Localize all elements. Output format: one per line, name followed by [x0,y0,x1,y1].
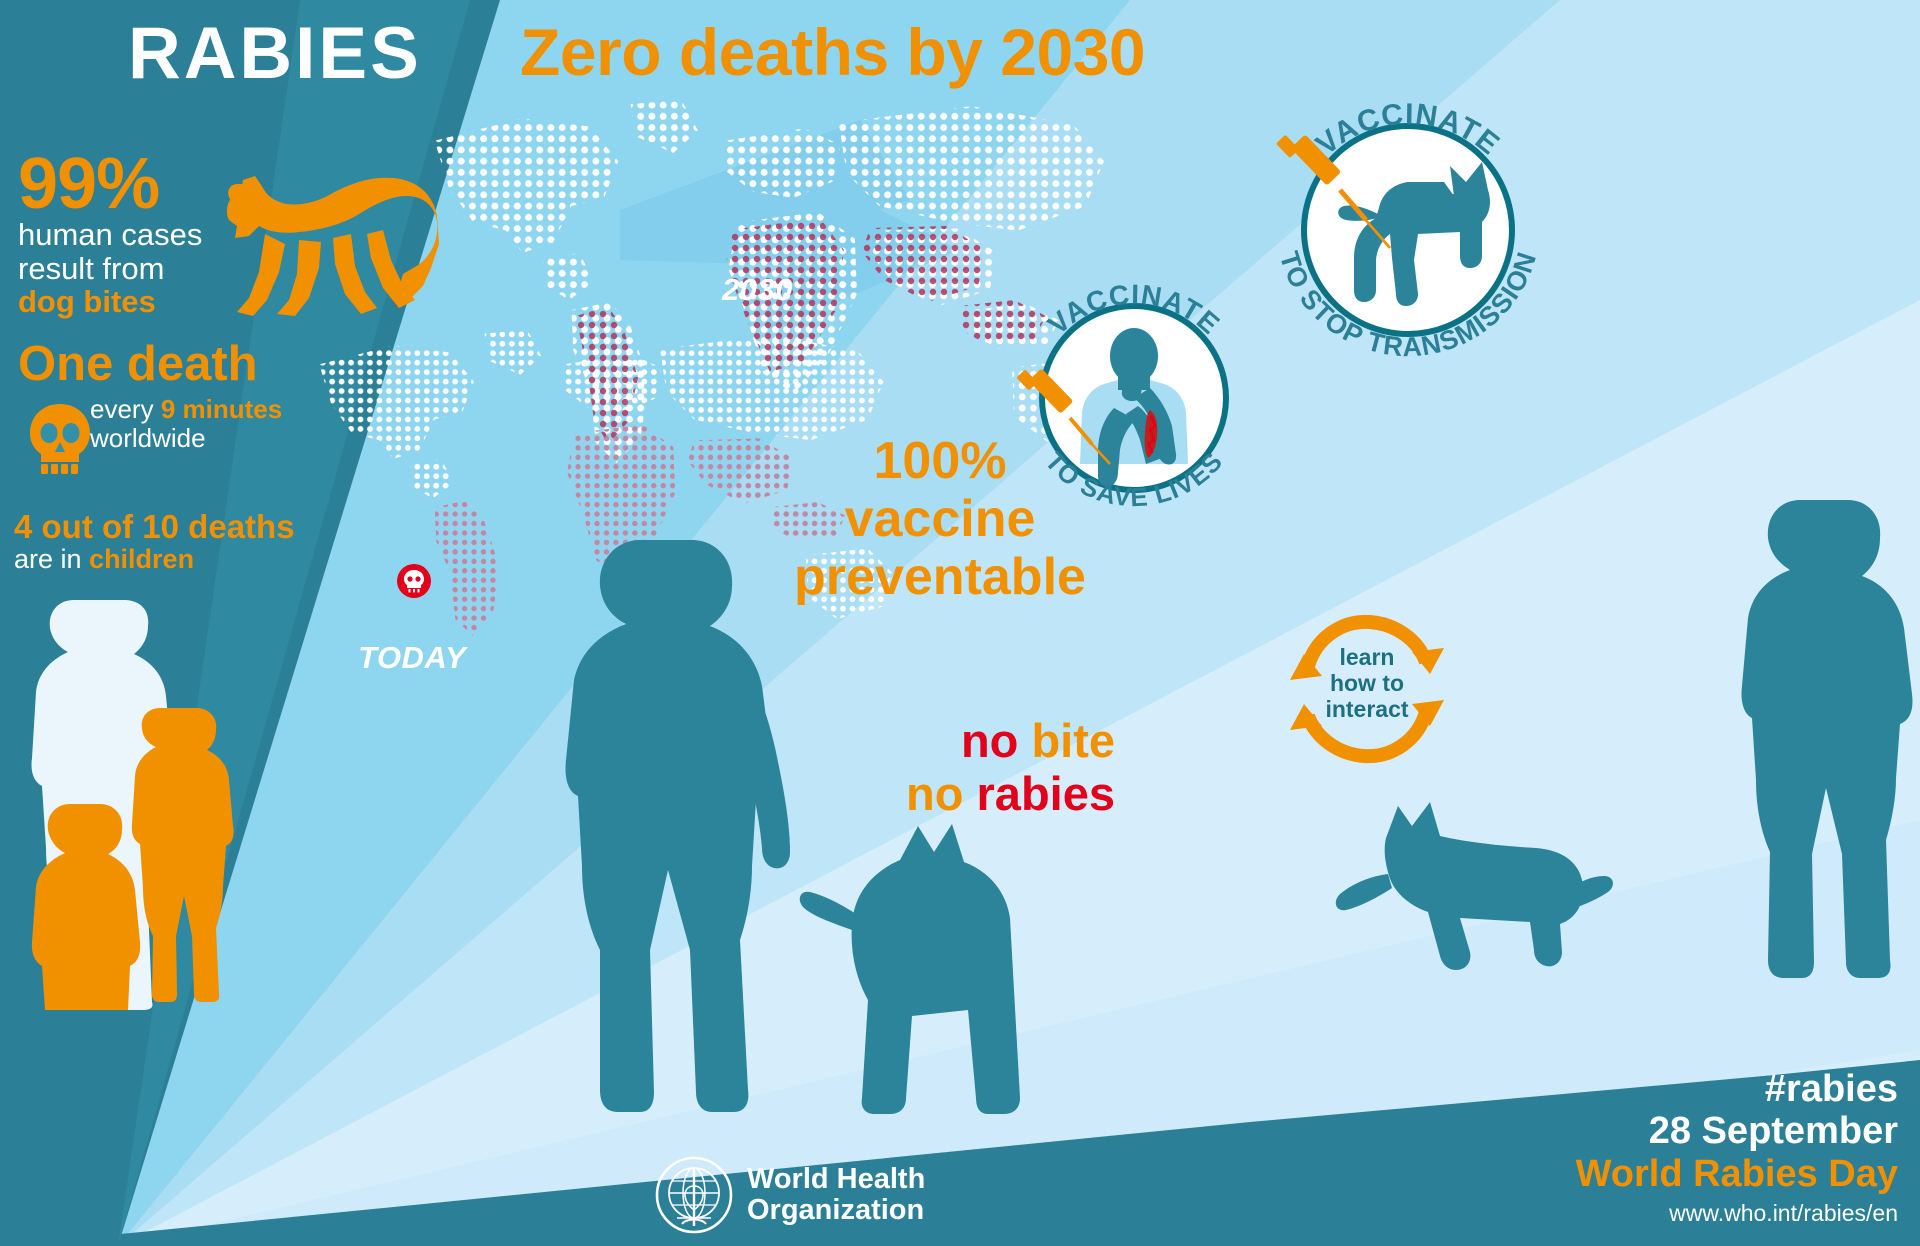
who-logo: World Health Organization [655,1156,925,1234]
dog-silhouette-center [800,824,1020,1114]
footer-date: 28 September [1576,1110,1898,1153]
who-name: World Health Organization [747,1164,925,1227]
learn-how-to-interact-block: learn how to interact [1272,608,1462,768]
skull-icon [28,402,92,476]
stat-one-death: One death every 9 minutes worldwide [18,340,348,453]
stat-children-sub: are in children [14,545,354,575]
stat-children: 4 out of 10 deaths are in children [14,510,354,574]
page-subtitle: Zero deaths by 2030 [520,14,1145,90]
map-label-today: TODAY [358,640,466,676]
who-name-line-1: World Health [747,1164,925,1195]
stat-death-line2: worldwide [90,424,348,453]
vaccine-line-3: preventable [760,548,1120,606]
footer-day-name: World Rabies Day [1576,1153,1898,1196]
map-label-2030: 2030 [722,272,793,308]
footer-block: #rabies 28 September World Rabies Day ww… [1576,1068,1898,1230]
no-rabies-line: no rabies [855,768,1115,821]
no-bite-line: no bite [855,715,1115,768]
learn-line-2: how to [1272,670,1462,696]
stat-death-sub: every 9 minutes worldwide [90,395,348,453]
woman-walking-silhouette [566,540,791,1112]
who-emblem-icon [655,1156,733,1234]
family-silhouette [10,590,240,1010]
stat-death-line1: every 9 minutes [90,395,348,424]
learn-text: learn how to interact [1272,644,1462,722]
learn-line-3: interact [1272,696,1462,722]
running-dog-silhouette [1336,802,1613,970]
who-name-line-2: Organization [747,1195,925,1226]
rabies-infographic-poster: 99% human cases result from dog bites On… [0,0,1920,1246]
dog-icon [225,148,440,318]
woman-standing-silhouette-right [1741,500,1912,978]
stat-death-headline: One death [18,340,348,389]
learn-line-1: learn [1272,644,1462,670]
footer-url[interactable]: www.who.int/rabies/en [1576,1196,1898,1231]
footer-hashtag: #rabies [1576,1068,1898,1111]
no-bite-no-rabies-block: no bite no rabies [855,715,1115,820]
page-title: RABIES [128,12,422,95]
badge-vaccinate-stop-transmission: VACCINATE TO STOP TRANSMISSION [1258,78,1558,378]
badge-vaccinate-save-lives: VACCINATE TO SAVE LIVES [1000,258,1268,526]
stat-children-headline: 4 out of 10 deaths [14,510,354,545]
